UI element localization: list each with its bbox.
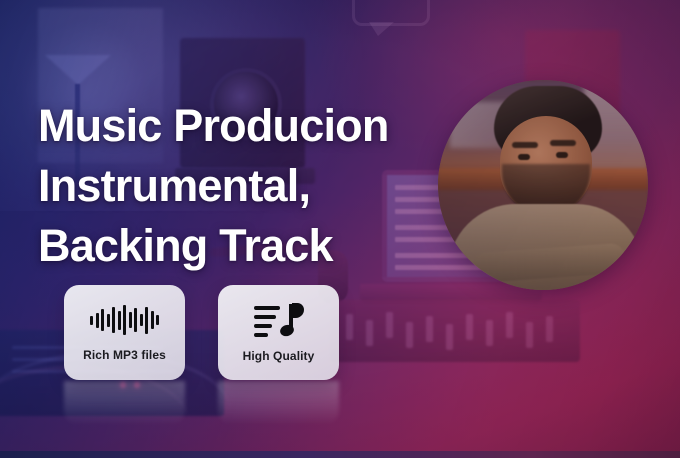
waveform-bar-8 [134,308,137,332]
pill-reflections [64,381,339,425]
audio-waveform-icon [90,303,159,337]
waveform-bar-10 [145,307,148,334]
pill-reflection-1 [64,381,185,425]
quality-line-0 [254,306,280,310]
waveform-bar-4 [112,307,115,333]
waveform-bar-1 [96,313,99,328]
pill-reflection-2 [218,381,339,425]
waveform-bar-2 [101,309,104,331]
feature-badge-mp3-label: Rich MP3 files [83,348,166,362]
waveform-bar-5 [118,311,121,330]
quality-line-2 [254,324,272,328]
waveform-bar-9 [140,314,143,326]
bottom-bar [0,451,680,458]
headline-line-3: Backing Track [38,216,458,276]
note-flag [292,303,304,318]
feature-badge-mp3[interactable]: Rich MP3 files [64,285,185,380]
page-title: Music Producion Instrumental, Backing Tr… [38,96,458,276]
headline-line-2: Instrumental, [38,156,458,216]
quality-line-1 [254,315,276,319]
music-note-lines-icon [254,302,304,338]
avatar [438,80,648,290]
waveform-bar-3 [107,314,110,327]
note-head [278,323,295,338]
thumbnail-canvas: Music Producion Instrumental, Backing Tr… [0,0,680,458]
waveform-bar-6 [123,305,126,335]
feature-badge-quality-label: High Quality [243,349,315,363]
waveform-bar-12 [156,315,159,325]
waveform-bar-0 [90,316,93,325]
waveform-bar-7 [129,312,132,328]
feature-badge-quality[interactable]: High Quality [218,285,339,380]
avatar-color-tint [438,80,648,290]
feature-badges: Rich MP3 files High Quality [64,285,339,380]
waveform-bar-11 [151,311,154,329]
quality-line-3 [254,333,268,337]
headline-line-1: Music Producion [38,96,458,156]
